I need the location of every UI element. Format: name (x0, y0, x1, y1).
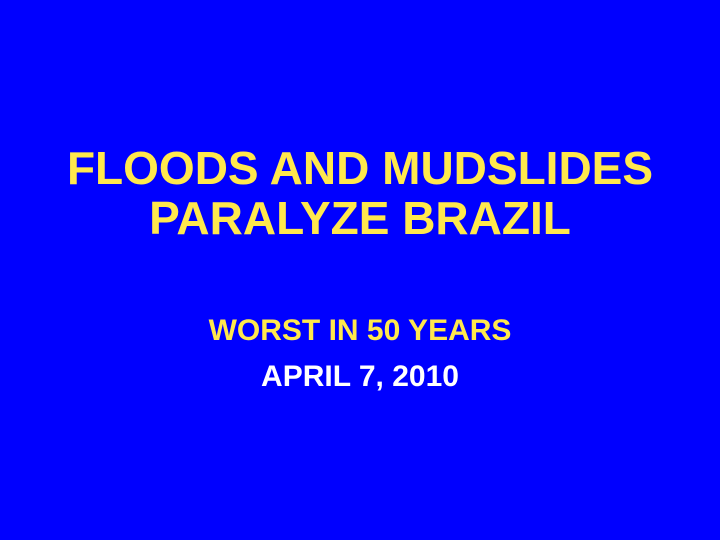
slide-title: FLOODS AND MUDSLIDES PARALYZE BRAZIL (0, 143, 720, 243)
slide-canvas: FLOODS AND MUDSLIDES PARALYZE BRAZIL WOR… (0, 0, 720, 540)
title-line-2: PARALYZE BRAZIL (0, 193, 720, 243)
slide-subtitle: WORST IN 50 YEARS APRIL 7, 2010 (0, 308, 720, 400)
subtitle-line-severity: WORST IN 50 YEARS (0, 308, 720, 354)
title-line-1: FLOODS AND MUDSLIDES (0, 143, 720, 193)
subtitle-line-date: APRIL 7, 2010 (0, 354, 720, 400)
